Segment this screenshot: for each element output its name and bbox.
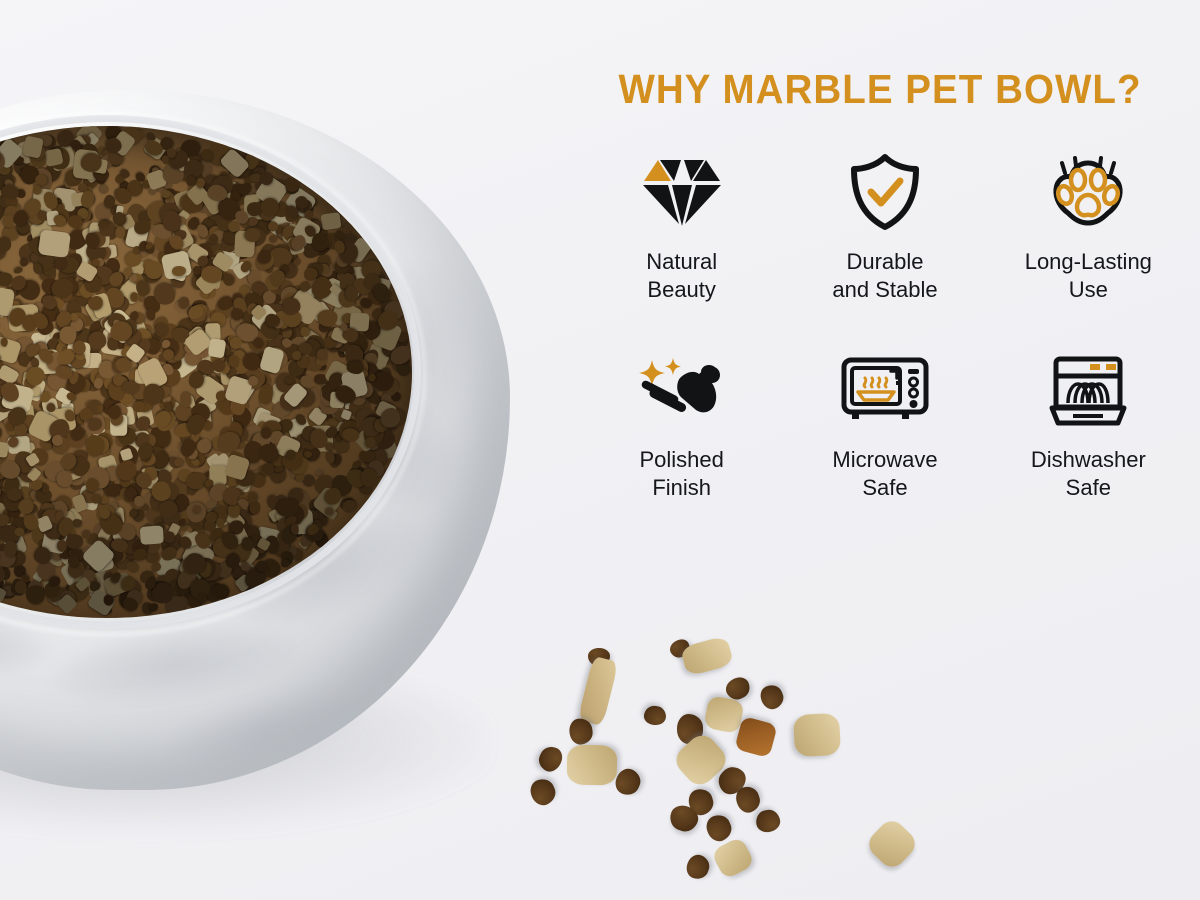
- feature-dishwasher-safe: Dishwasher Safe: [987, 348, 1190, 502]
- kibble-piece: [149, 603, 159, 613]
- kibble-piece: [57, 539, 67, 551]
- feature-label: Durable and Stable: [832, 248, 937, 304]
- feature-natural-beauty: Natural Beauty: [580, 150, 783, 304]
- paw-print-icon: [1048, 150, 1128, 234]
- bowl-food-well: [0, 126, 412, 618]
- kibble-piece: [98, 183, 110, 195]
- kibble-piece: [115, 227, 125, 239]
- kibble-piece: [39, 229, 72, 258]
- dishwasher-icon: [1046, 348, 1130, 432]
- feature-panel: WHY MARBLE PET BOWL? Natural Beauty: [560, 0, 1200, 900]
- polish-sparkle-icon: [636, 348, 728, 432]
- kibble-pile: [0, 126, 412, 618]
- feature-label: Long-Lasting Use: [1025, 248, 1152, 304]
- diamond-icon: [641, 150, 723, 234]
- kibble-piece: [0, 319, 1, 331]
- microwave-icon: [840, 348, 930, 432]
- kibble-piece: [0, 426, 3, 440]
- marble-pet-bowl-photo: [0, 90, 560, 880]
- feature-microwave-safe: Microwave Safe: [783, 348, 986, 502]
- kibble-piece: [317, 310, 338, 328]
- feature-label: Natural Beauty: [646, 248, 717, 304]
- kibble-piece: [212, 583, 230, 599]
- feature-durable-and-stable: Durable and Stable: [783, 150, 986, 304]
- feature-polished-finish: Polished Finish: [580, 348, 783, 502]
- kibble-piece: [122, 381, 139, 395]
- scattered-kibble-piece: [527, 775, 560, 809]
- feature-label: Dishwasher Safe: [1031, 446, 1146, 502]
- kibble-piece: [279, 558, 289, 568]
- kibble-piece: [14, 527, 25, 537]
- kibble-piece: [140, 526, 165, 546]
- shield-check-icon: [847, 150, 923, 234]
- kibble-piece: [80, 190, 95, 208]
- kibble-piece: [259, 346, 284, 374]
- product-feature-banner: WHY MARBLE PET BOWL? Natural Beauty: [0, 0, 1200, 900]
- kibble-piece: [34, 547, 51, 564]
- feature-long-lasting-use: Long-Lasting Use: [987, 150, 1190, 304]
- feature-grid: Natural Beauty Durable and Stable: [580, 150, 1190, 502]
- feature-label: Microwave Safe: [832, 446, 937, 502]
- feature-label: Polished Finish: [639, 446, 723, 502]
- page-title: WHY MARBLE PET BOWL?: [579, 66, 1181, 113]
